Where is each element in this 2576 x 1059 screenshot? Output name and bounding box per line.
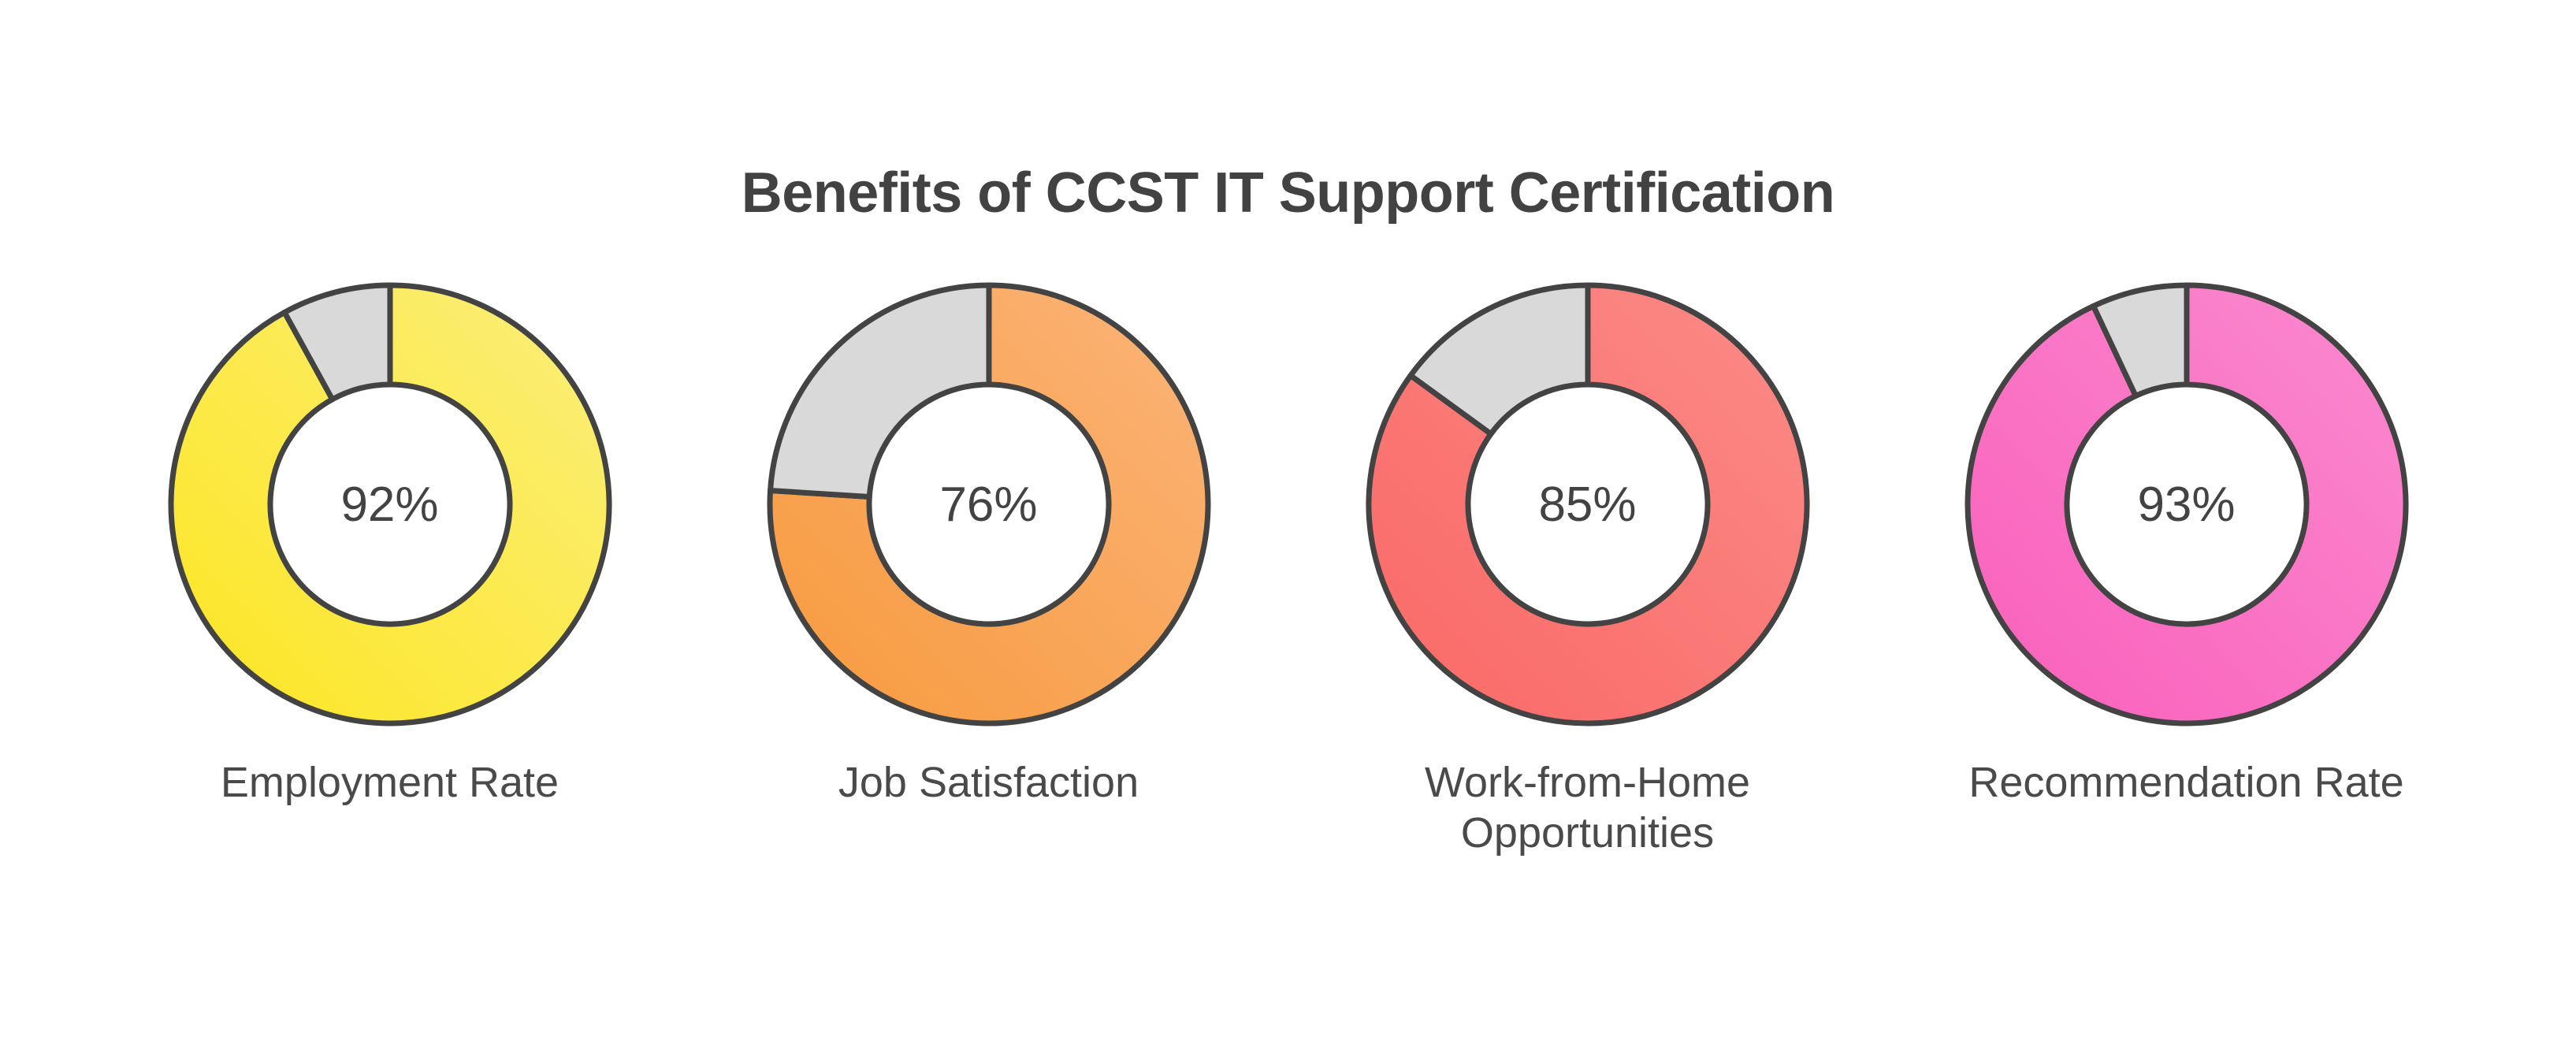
donut-category-label-line: Employment Rate bbox=[221, 759, 559, 806]
donut-ring-recommendation-rate: 93% bbox=[1950, 268, 2423, 741]
donut-category-label: Employment Rate bbox=[130, 758, 650, 808]
donut-category-label-line: Recommendation Rate bbox=[1968, 759, 2403, 806]
donut-ring-work-from-home-opportunities: 85% bbox=[1351, 268, 1824, 741]
donut-chart-recommendation-rate: 93%Recommendation Rate bbox=[1887, 268, 2486, 808]
donut-chart-work-from-home-opportunities: 85%Work-from-HomeOpportunities bbox=[1288, 268, 1887, 858]
donut-category-label-line: Work-from-Home bbox=[1425, 759, 1750, 806]
donut-value-label: 93% bbox=[1950, 268, 2423, 741]
donut-category-label-line: Opportunities bbox=[1461, 809, 1714, 856]
donut-chart-row: 92%Employment Rate76%Job Satisfaction85%… bbox=[0, 268, 2576, 858]
donut-category-label: Work-from-HomeOpportunities bbox=[1328, 758, 1848, 858]
donut-category-label: Job Satisfaction bbox=[729, 758, 1249, 808]
donut-value-label: 76% bbox=[753, 268, 1225, 741]
donut-category-label-line: Job Satisfaction bbox=[838, 759, 1139, 806]
donut-ring-employment-rate: 92% bbox=[154, 268, 626, 741]
donut-chart-job-satisfaction: 76%Job Satisfaction bbox=[690, 268, 1288, 808]
infographic-canvas: Benefits of CCST IT Support Certificatio… bbox=[0, 0, 2576, 1059]
donut-value-label: 85% bbox=[1351, 268, 1824, 741]
donut-chart-employment-rate: 92%Employment Rate bbox=[91, 268, 690, 808]
donut-ring-job-satisfaction: 76% bbox=[753, 268, 1225, 741]
donut-category-label: Recommendation Rate bbox=[1927, 758, 2447, 808]
donut-value-label: 92% bbox=[154, 268, 626, 741]
page-title: Benefits of CCST IT Support Certificatio… bbox=[0, 164, 2576, 224]
